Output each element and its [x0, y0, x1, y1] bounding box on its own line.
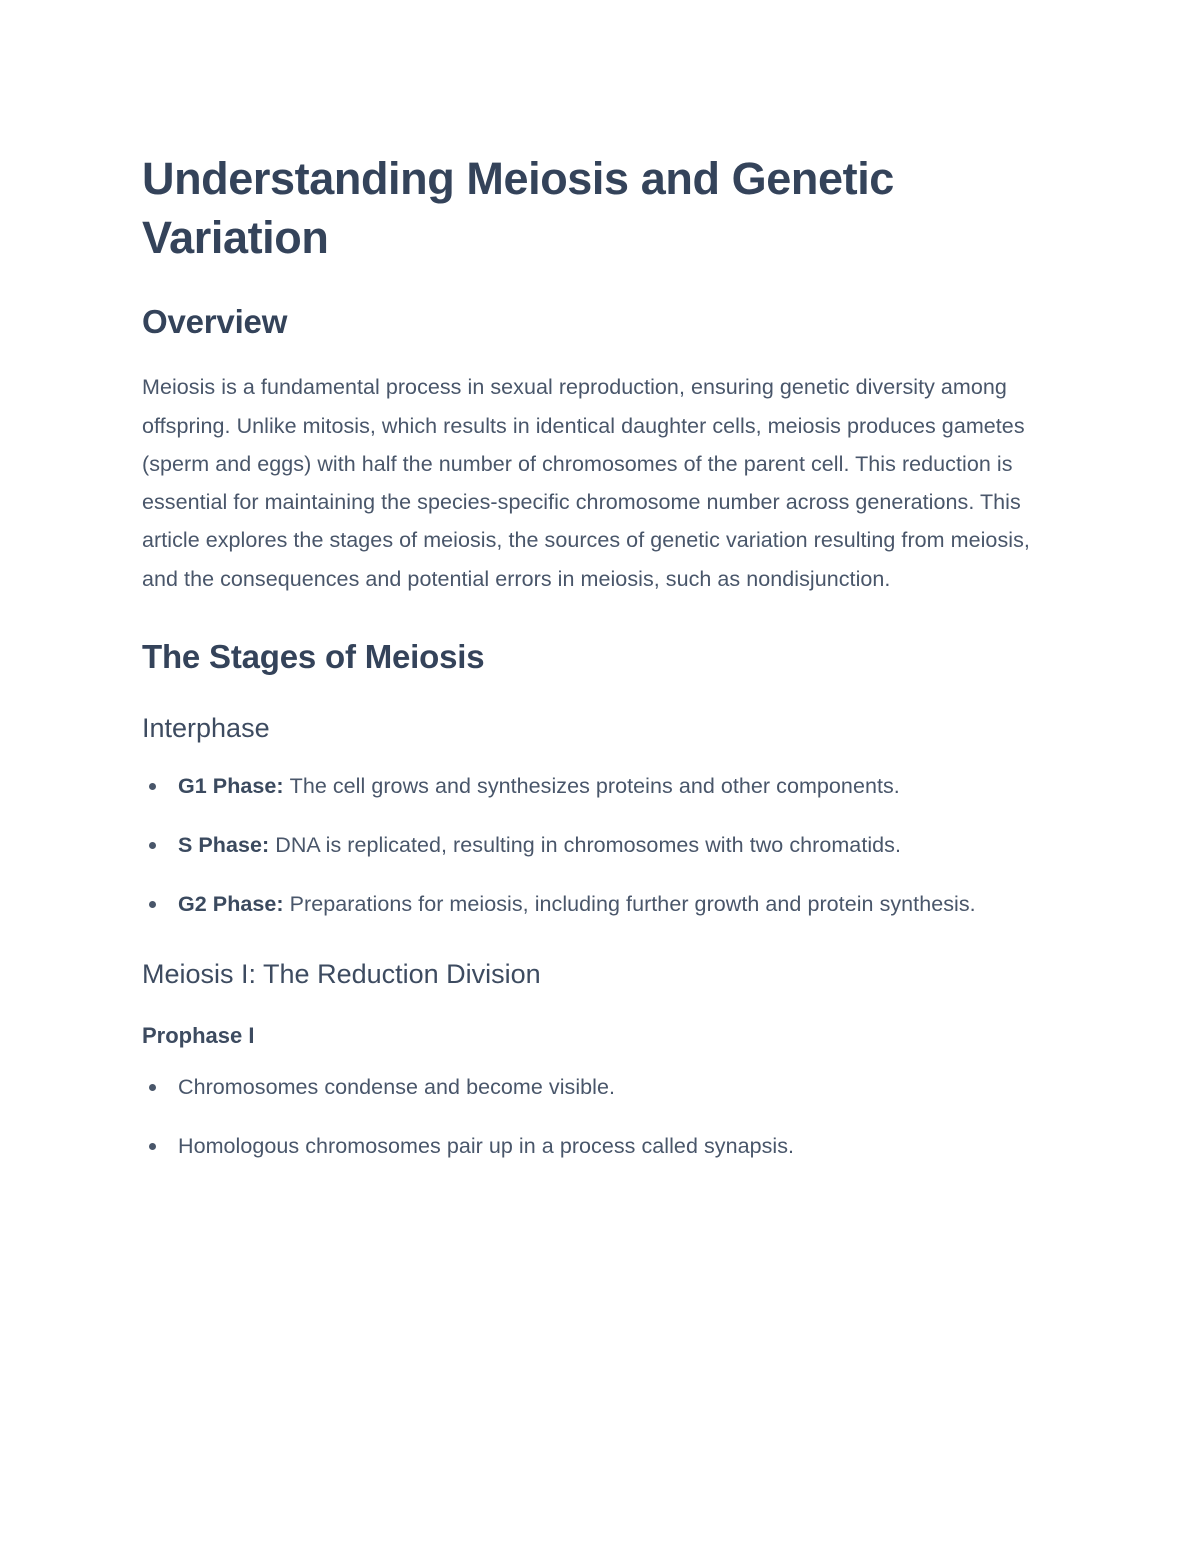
- bullet-dot-icon: [149, 901, 156, 908]
- bullet-lead-separator: :: [276, 774, 289, 798]
- bullet-dot-icon: [149, 842, 156, 849]
- bullet-lead-separator: :: [262, 833, 275, 857]
- subheading-meiosis-i: Meiosis I: The Reduction Division: [142, 957, 1058, 992]
- list-item: Chromosomes condense and become visible.: [142, 1069, 1058, 1106]
- bullet-lead-label: G2 Phase: [178, 892, 276, 916]
- minor-heading-prophase-i: Prophase I: [142, 1022, 1058, 1051]
- page-title: Understanding Meiosis and Genetic Variat…: [142, 150, 1058, 267]
- bullet-text: Preparations for meiosis, including furt…: [290, 892, 976, 916]
- bullet-dot-icon: [149, 783, 156, 790]
- bullet-text: The cell grows and synthesizes proteins …: [290, 774, 900, 798]
- overview-paragraph: Meiosis is a fundamental process in sexu…: [142, 368, 1058, 598]
- subheading-interphase: Interphase: [142, 711, 1058, 746]
- list-item: G1 Phase: The cell grows and synthesizes…: [142, 768, 1058, 805]
- bullet-text: DNA is replicated, resulting in chromoso…: [275, 833, 901, 857]
- list-item: S Phase: DNA is replicated, resulting in…: [142, 827, 1058, 864]
- prophase-i-bullet-list: Chromosomes condense and become visible.…: [142, 1069, 1058, 1165]
- section-heading-overview: Overview: [142, 301, 1058, 342]
- section-heading-stages-of-meiosis: The Stages of Meiosis: [142, 636, 1058, 677]
- bullet-dot-icon: [149, 1143, 156, 1150]
- bullet-text: Chromosomes condense and become visible.: [178, 1075, 615, 1099]
- document-page: Understanding Meiosis and Genetic Variat…: [0, 0, 1200, 1553]
- bullet-lead-label: G1 Phase: [178, 774, 276, 798]
- bullet-lead-label: S Phase: [178, 833, 262, 857]
- interphase-bullet-list: G1 Phase: The cell grows and synthesizes…: [142, 768, 1058, 923]
- bullet-text: Homologous chromosomes pair up in a proc…: [178, 1134, 794, 1158]
- list-item: G2 Phase: Preparations for meiosis, incl…: [142, 886, 1058, 923]
- bullet-lead-separator: :: [276, 892, 289, 916]
- bullet-dot-icon: [149, 1084, 156, 1091]
- list-item: Homologous chromosomes pair up in a proc…: [142, 1128, 1058, 1165]
